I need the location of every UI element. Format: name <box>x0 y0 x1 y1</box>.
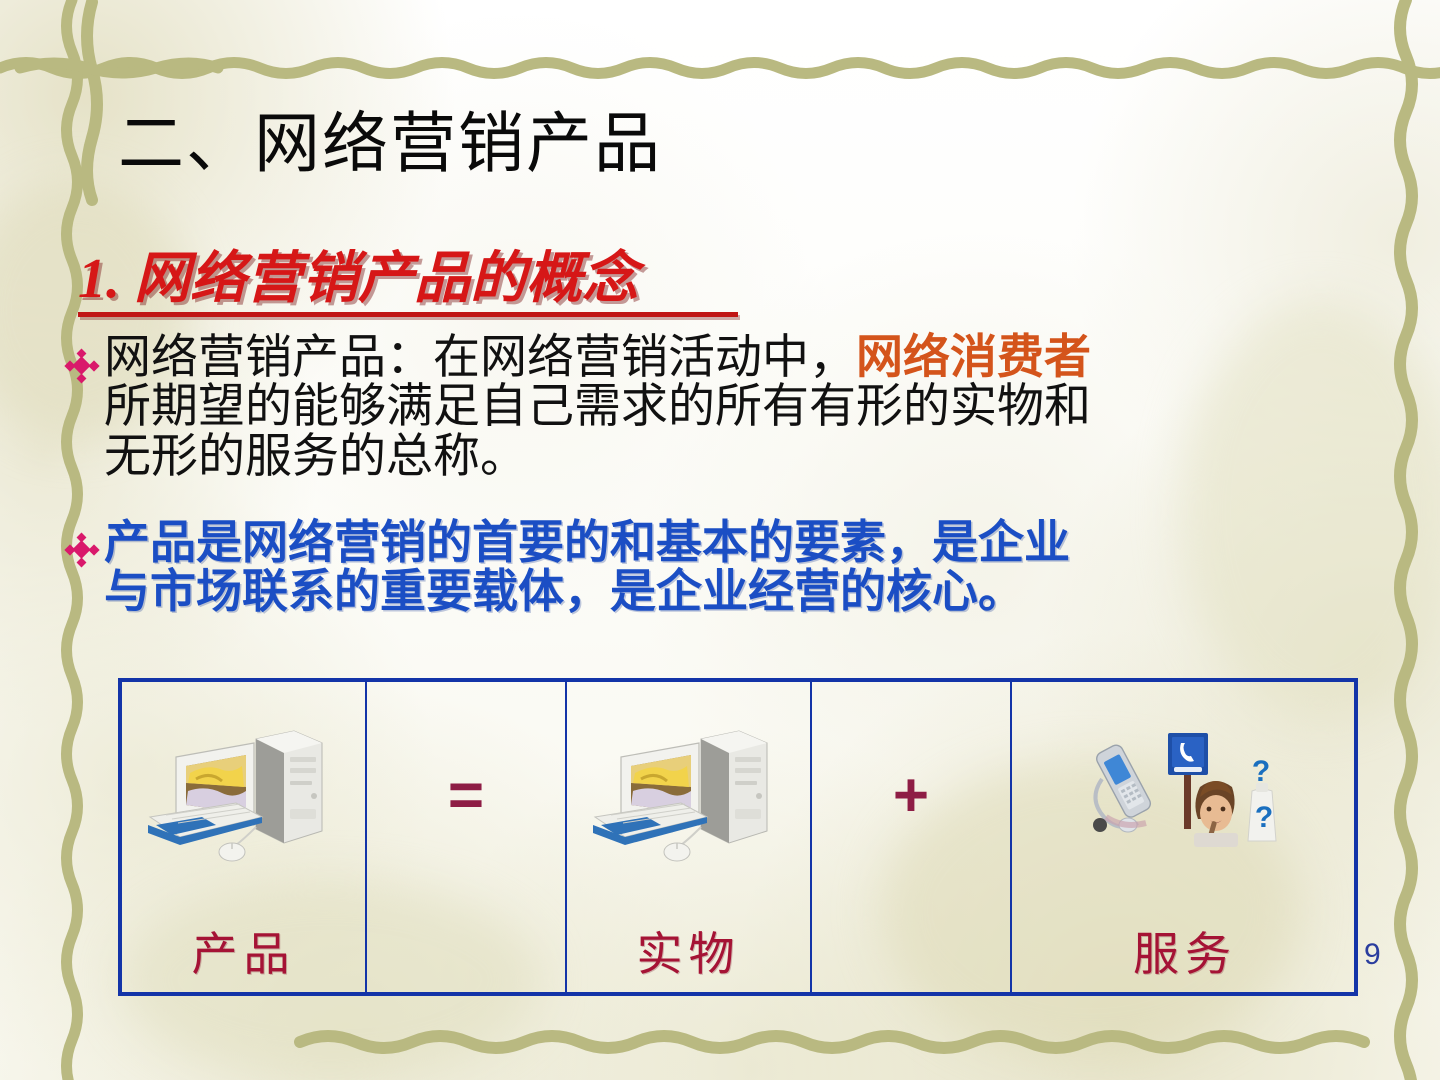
bullet2-line2: 与市场联系的重要载体，是企业经营的核心。 <box>104 565 1024 617</box>
bullet-marker-icon <box>66 534 104 566</box>
table-cell-label-blank-2 <box>812 910 1012 992</box>
table-cell-label-physical: 实物 <box>567 910 812 992</box>
desktop-computer-icon <box>589 721 789 871</box>
vine-border-top <box>0 38 1440 98</box>
equals-operator: = <box>448 765 484 827</box>
section-heading: 1. 网络营销产品的概念 <box>78 250 638 313</box>
svg-text:?: ? <box>1252 755 1270 788</box>
bullet2-line1: 产品是网络营销的首要的和基本的要素，是企业 <box>104 516 1070 568</box>
bullet1-line1-highlight: 网络消费者 <box>856 332 1091 384</box>
bullet-text-definition: 网络营销产品：在网络营销活动中，网络消费者 所期望的能够满足自己需求的所有有形的… <box>104 334 1091 482</box>
desktop-computer-icon <box>144 721 344 871</box>
table-cell-equals: = <box>367 682 567 910</box>
label-service: 服务 <box>1133 918 1237 984</box>
product-equation-table: = <box>118 678 1358 996</box>
bullet-text-importance: 产品是网络营销的首要的和基本的要素，是企业 与市场联系的重要载体，是企业经营的核… <box>104 518 1070 616</box>
label-physical: 实物 <box>637 918 741 984</box>
bullet-marker-icon <box>66 350 104 382</box>
table-cell-label-blank-1 <box>367 910 567 992</box>
table-cell-product-image <box>122 682 367 910</box>
vine-border-bottom <box>0 1018 1440 1078</box>
bullet1-line2: 所期望的能够满足自己需求的所有有形的实物和 <box>104 381 1091 433</box>
page-number: 9 <box>1364 938 1381 972</box>
slide-title: 二、网络营销产品 <box>118 112 662 178</box>
svg-text:?: ? <box>1255 801 1273 834</box>
table-cell-label-service: 服务 <box>1012 910 1358 992</box>
table-cell-physical-image <box>567 682 812 910</box>
bullet1-line3: 无形的服务的总称。 <box>104 431 527 483</box>
bullet-item-importance: 产品是网络营销的首要的和基本的要素，是企业 与市场联系的重要载体，是企业经营的核… <box>66 518 1396 616</box>
bullet1-line1-black: 网络营销产品：在网络营销活动中， <box>104 332 856 384</box>
bullet-item-definition: 网络营销产品：在网络营销活动中，网络消费者 所期望的能够满足自己需求的所有有形的… <box>66 334 1396 482</box>
label-product: 产品 <box>192 918 296 984</box>
table-cell-label-product: 产品 <box>122 910 367 992</box>
table-cell-plus: + <box>812 682 1012 910</box>
section-heading-underline <box>78 312 738 317</box>
plus-operator: + <box>893 765 929 827</box>
table-cell-service-image: ? ? <box>1012 682 1358 910</box>
slide-canvas: 二、网络营销产品 1. 网络营销产品的概念 网络营销产品：在网络营销活动中，网络… <box>0 0 1440 1080</box>
service-collage-icon: ? ? <box>1080 721 1290 871</box>
